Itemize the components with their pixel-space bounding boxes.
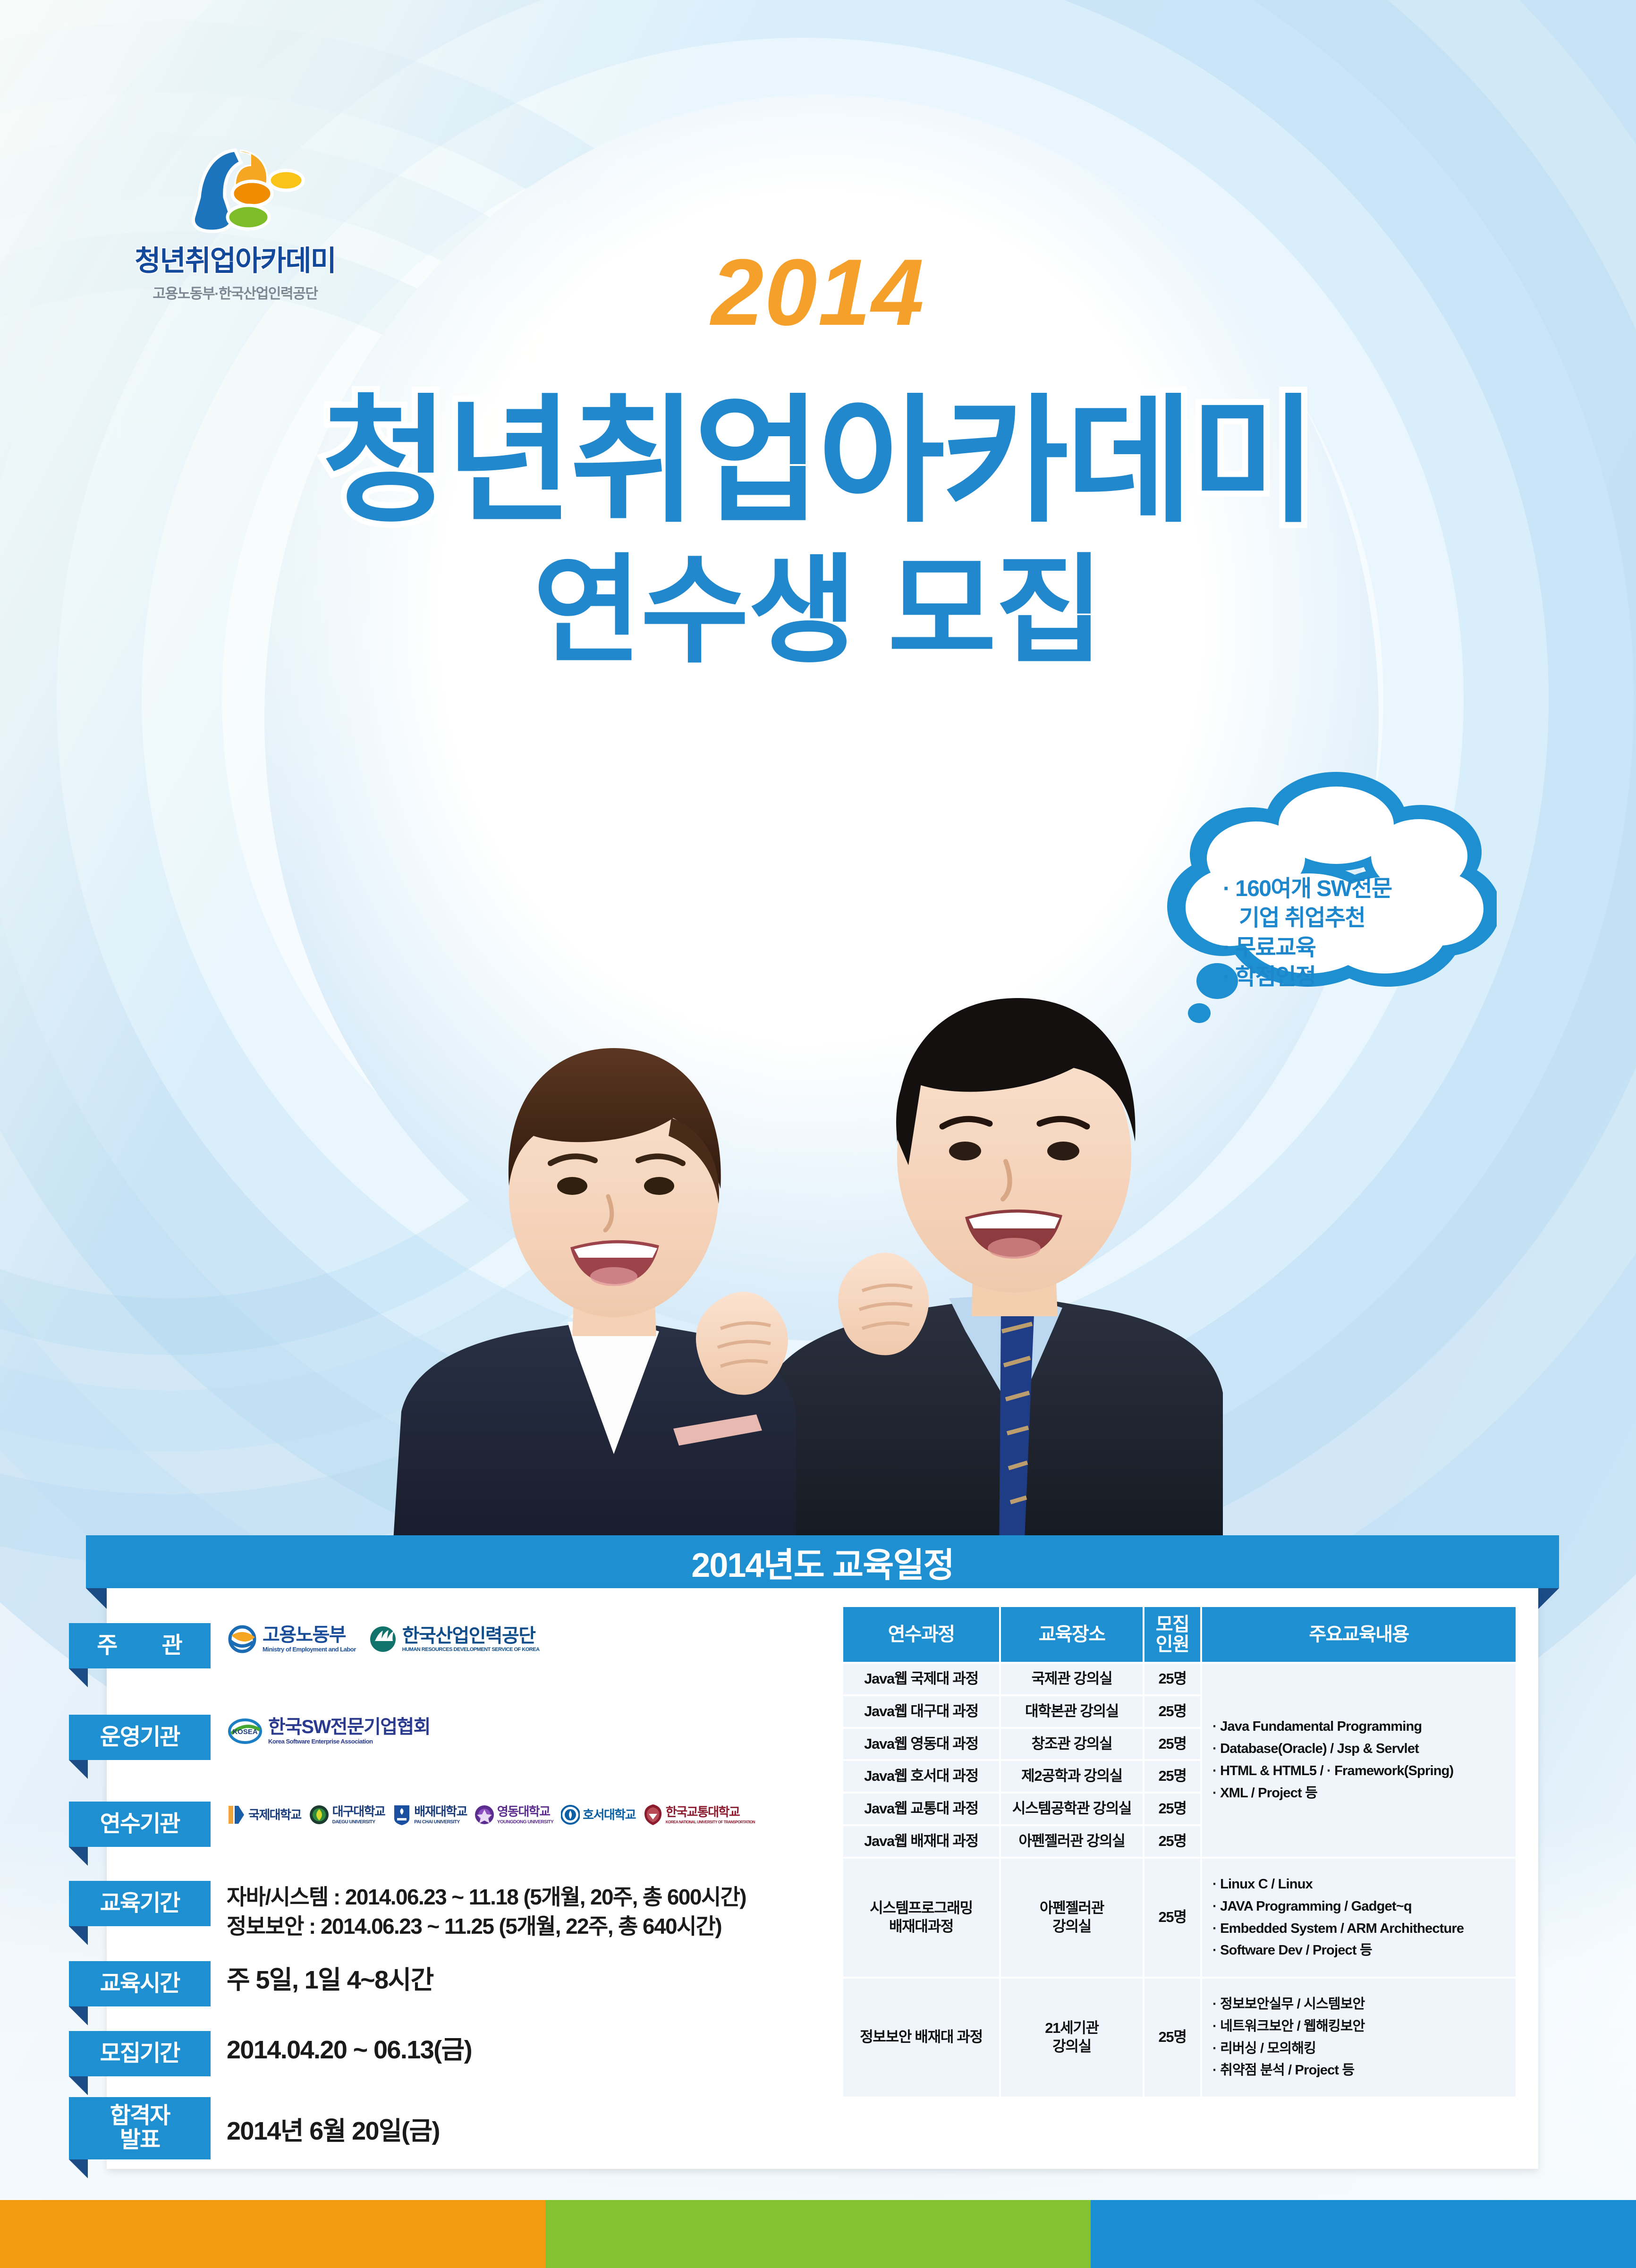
hours-line: 주 5일, 1일 4~8시간: [227, 1963, 433, 1997]
logo-daegu-name: 대구대학교: [332, 1804, 385, 1819]
content-line: · Java Fundamental Programming: [1212, 1716, 1513, 1738]
svg-text:KOSEA: KOSEA: [232, 1728, 258, 1736]
benefit-item-1: · 160여개 SW전문: [1223, 874, 1445, 904]
info-body-training: 국제대학교 대구대학교 DAEGU UNIVERSITY: [211, 1802, 755, 1826]
moel-globe-icon: [227, 1625, 258, 1653]
academy-ribbon-logo-icon: [164, 142, 306, 236]
info-tag-application-wrap: 모집기간: [69, 2031, 211, 2076]
cell-course: Java웹 국제대 과정: [843, 1664, 999, 1694]
cell-place-l1: 아펜젤러관: [1040, 1900, 1104, 1916]
logo-kosea-en: Korea Software Enterprise Association: [268, 1738, 430, 1745]
photo-person-female: [392, 1048, 796, 1563]
info-tag-hours: 교육시간: [69, 1961, 211, 2006]
table-row: 정보보안 배재대 과정 21세기관 강의실 25명 · 정보보안실무 / 시스템…: [843, 1979, 1516, 2097]
kookje-univ-icon: [227, 1804, 246, 1826]
info-body-host: 고용노동부 Ministry of Employment and Labor: [211, 1623, 540, 1653]
cell-quota: 25명: [1144, 1794, 1200, 1824]
info-body-operator: KOSEA 한국SW전문기업협회 Korea Software Enterpri…: [211, 1715, 430, 1746]
th-course: 연수과정: [843, 1607, 999, 1662]
logo-daegu-univ: 대구대학교 DAEGU UNIVERSITY: [309, 1804, 385, 1826]
th-place: 교육장소: [1001, 1607, 1143, 1662]
logo-kosea-text: 한국SW전문기업협회 Korea Software Enterprise Ass…: [268, 1718, 430, 1745]
content-line: · Software Dev / Project 등: [1212, 1939, 1513, 1962]
logo-moel: 고용노동부 Ministry of Employment and Labor: [227, 1625, 356, 1653]
info-body-application: 2014.04.20 ~ 06.13(금): [211, 2031, 472, 2067]
schedule-table: 연수과정 교육장소 모집 인원 주요교육내용 Java웹 국제대 과정 국제관 …: [841, 1605, 1517, 2099]
bottom-color-bar: [0, 2200, 1636, 2268]
logo-kosea-name: 한국SW전문기업협회: [268, 1717, 430, 1737]
info-row-period: 교육기간 자바/시스템 : 2014.06.23 ~ 11.18 (5개월, 2…: [107, 1881, 829, 1941]
cell-place: 21세기관 강의실: [1001, 1979, 1143, 2097]
logo-moel-text: 고용노동부 Ministry of Employment and Labor: [263, 1625, 356, 1653]
cell-place: 창조관 강의실: [1001, 1729, 1143, 1760]
info-tag-application: 모집기간: [69, 2031, 211, 2076]
info-row-announcement: 합격자 발표 2014년 6월 20일(금): [107, 2097, 829, 2159]
logo-hrdkorea-name: 한국산업인력공단: [402, 1625, 535, 1646]
cell-course-l1: 시스템프로그래밍: [870, 1900, 973, 1916]
schedule-table-body: Java웹 국제대 과정 국제관 강의실 25명 · Java Fundamen…: [843, 1664, 1516, 2097]
content-line: · 리버싱 / 모의해킹: [1212, 2038, 1513, 2060]
info-row-training-institutions: 연수기관 국제대학교: [107, 1802, 829, 1847]
schedule-table-wrap: 연수과정 교육장소 모집 인원 주요교육내용 Java웹 국제대 과정 국제관 …: [841, 1605, 1517, 2099]
info-tag-operator-wrap: 운영기관: [69, 1715, 211, 1760]
cell-quota: 25명: [1144, 1826, 1200, 1857]
logo-kookje-univ: 국제대학교: [227, 1804, 301, 1826]
hoseo-univ-icon: [561, 1804, 580, 1826]
info-body-hours: 주 5일, 1일 4~8시간: [211, 1961, 433, 1997]
content-panel: 주 관 고용노동부: [107, 1588, 1538, 2169]
cell-course: Java웹 영동대 과정: [843, 1729, 999, 1760]
info-row-application-period: 모집기간 2014.04.20 ~ 06.13(금): [107, 2031, 829, 2076]
logo-daegu-en: DAEGU UNIVERSITY: [332, 1819, 385, 1825]
th-quota-l1: 모집: [1156, 1614, 1189, 1635]
kanut-univ-icon: [643, 1803, 663, 1826]
logo-kanut-name: 한국교통대학교: [666, 1805, 739, 1819]
cell-quota: 25명: [1144, 1859, 1200, 1977]
hrdkorea-leaf-icon: [368, 1625, 398, 1653]
cell-quota: 25명: [1144, 1729, 1200, 1760]
youngdong-univ-icon: [475, 1804, 494, 1826]
logo-kanut-en: KOREA NATIONAL UNIVERSITY OF TRANSPORTAT…: [666, 1820, 755, 1824]
logo-hoseo-name: 호서대학교: [583, 1809, 636, 1821]
info-tag-host: 주 관: [69, 1623, 211, 1668]
logo-hrdkorea: 한국산업인력공단 HUMAN RESOURCES DEVELOPMENT SER…: [368, 1625, 540, 1653]
schedule-banner-title: 2014년도 교육일정: [86, 1535, 1559, 1588]
period-line-1: 자바/시스템 : 2014.06.23 ~ 11.18 (5개월, 20주, 총…: [227, 1883, 746, 1912]
info-row-host: 주 관 고용노동부: [107, 1623, 829, 1668]
cell-course: Java웹 교통대 과정: [843, 1794, 999, 1824]
logo-kosea: KOSEA 한국SW전문기업협회 Korea Software Enterpri…: [227, 1717, 430, 1746]
th-content: 주요교육내용: [1202, 1607, 1516, 1662]
cell-content-java: · Java Fundamental Programming · Databas…: [1202, 1664, 1516, 1857]
info-tag-training: 연수기관: [69, 1802, 211, 1847]
poster-root: 청년취업아카데미 고용노동부·한국산업인력공단 2014 청년취업아카데미 연수…: [0, 0, 1636, 2268]
logo-hrdkorea-en: HUMAN RESOURCES DEVELOPMENT SERVICE OF K…: [402, 1647, 540, 1652]
th-quota: 모집 인원: [1144, 1607, 1200, 1662]
university-logo-strip: 국제대학교 대구대학교 DAEGU UNIVERSITY: [227, 1803, 755, 1826]
cell-quota: 25명: [1144, 1761, 1200, 1792]
content-line: · 네트워크보안 / 웹해킹보안: [1212, 2015, 1513, 2038]
host-logo-strip: 고용노동부 Ministry of Employment and Labor: [227, 1625, 540, 1653]
logo-paichai-univ: 배재대학교 PAI CHAI UNIVERSITY: [392, 1804, 467, 1826]
operator-logo-strip: KOSEA 한국SW전문기업협회 Korea Software Enterpri…: [227, 1717, 430, 1746]
benefits-list: · 160여개 SW전문 기업 취업추천 · 무료교육 · 학점인정: [1223, 874, 1445, 992]
bottom-bar-green: [545, 2200, 1091, 2268]
cell-place: 아펜젤러관 강의실: [1001, 1826, 1143, 1857]
headline-year: 2014: [0, 238, 1636, 347]
application-period-line: 2014.04.20 ~ 06.13(금): [227, 2033, 472, 2067]
content-line: · 취약점 분석 / Project 등: [1212, 2059, 1513, 2082]
info-body-period: 자바/시스템 : 2014.06.23 ~ 11.18 (5개월, 20주, 총…: [211, 1881, 746, 1941]
bottom-bar-blue: [1091, 2200, 1636, 2268]
info-tag-period: 교육기간: [69, 1881, 211, 1926]
period-line-2: 정보보안 : 2014.06.23 ~ 11.25 (5개월, 22주, 총 6…: [227, 1912, 746, 1941]
info-list: 주 관 고용노동부: [107, 1588, 829, 2169]
logo-paichai-name: 배재대학교: [414, 1804, 467, 1819]
content-line: · Linux C / Linux: [1212, 1873, 1513, 1896]
people-photo: [392, 718, 1223, 1563]
bottom-bar-orange: [0, 2200, 545, 2268]
cell-quota: 25명: [1144, 1979, 1200, 2097]
benefit-item-2: · 무료교육: [1223, 933, 1445, 963]
logo-kookje-name: 국제대학교: [248, 1809, 301, 1821]
info-body-announcement: 2014년 6월 20일(금): [211, 2097, 440, 2148]
logo-moel-en: Ministry of Employment and Labor: [263, 1646, 356, 1653]
content-line: · Embedded System / ARM Archithecture: [1212, 1918, 1513, 1940]
content-line: · 정보보안실무 / 시스템보안: [1212, 1993, 1513, 2015]
info-row-hours: 교육시간 주 5일, 1일 4~8시간: [107, 1961, 829, 2006]
cell-course: 정보보안 배재대 과정: [843, 1979, 999, 2097]
content-line: · XML / Project 등: [1212, 1782, 1513, 1804]
cell-quota: 25명: [1144, 1664, 1200, 1694]
photo-person-male: [741, 998, 1223, 1563]
paichai-univ-icon: [392, 1804, 411, 1826]
logo-hrdkorea-text: 한국산업인력공단 HUMAN RESOURCES DEVELOPMENT SER…: [402, 1626, 540, 1652]
logo-youngdong-text: 영동대학교 YOUNGDONG UNIVERSITY: [497, 1805, 553, 1825]
info-tag-operator: 운영기관: [69, 1715, 211, 1760]
logo-youngdong-en: YOUNGDONG UNIVERSITY: [497, 1819, 553, 1825]
info-tag-host-wrap: 주 관: [69, 1623, 211, 1668]
content-line: · Database(Oracle) / Jsp & Servlet: [1212, 1738, 1513, 1760]
benefit-item-3: · 학점인정: [1223, 963, 1445, 992]
cell-place-l2: 강의실: [1052, 1918, 1091, 1935]
schedule-banner: 2014년도 교육일정: [86, 1535, 1559, 1588]
cell-course: 시스템프로그래밍 배재대과정: [843, 1859, 999, 1977]
logo-kanut-univ: 한국교통대학교 KOREA NATIONAL UNIVERSITY OF TRA…: [643, 1803, 755, 1826]
table-row: 시스템프로그래밍 배재대과정 아펜젤러관 강의실 25명 · Linux C /…: [843, 1859, 1516, 1977]
benefit-item-1-cont: 기업 취업추천: [1223, 904, 1445, 933]
kosea-swirl-icon: KOSEA: [227, 1717, 263, 1746]
cell-place-l1: 21세기관: [1045, 2020, 1099, 2036]
cell-place: 아펜젤러관 강의실: [1001, 1859, 1143, 1977]
people-photo-illustration: [392, 718, 1223, 1563]
benefits-thought-bubble: · 160여개 SW전문 기업 취업추천 · 무료교육 · 학점인정: [1166, 770, 1497, 1043]
logo-daegu-text: 대구대학교 DAEGU UNIVERSITY: [332, 1805, 385, 1825]
cell-place: 시스템공학관 강의실: [1001, 1794, 1143, 1824]
logo-kanut-text: 한국교통대학교 KOREA NATIONAL UNIVERSITY OF TRA…: [666, 1806, 755, 1824]
headline-line-2: 연수생 모집: [0, 515, 1636, 685]
logo-youngdong-univ: 영동대학교 YOUNGDONG UNIVERSITY: [475, 1804, 553, 1826]
table-header-row: 연수과정 교육장소 모집 인원 주요교육내용: [843, 1607, 1516, 1662]
cell-course: Java웹 대구대 과정: [843, 1696, 999, 1727]
info-tag-announcement-l1: 합격자: [110, 2104, 170, 2128]
info-row-operator: 운영기관 KOSEA 한국SW전문기업협회: [107, 1715, 829, 1760]
info-tag-training-wrap: 연수기관: [69, 1802, 211, 1847]
cell-place-l2: 강의실: [1052, 2038, 1091, 2055]
cell-course: Java웹 호서대 과정: [843, 1761, 999, 1792]
cell-place: 국제관 강의실: [1001, 1664, 1143, 1694]
cell-place: 대학본관 강의실: [1001, 1696, 1143, 1727]
logo-moel-name: 고용노동부: [263, 1625, 346, 1645]
th-quota-l2: 인원: [1156, 1634, 1189, 1655]
cell-quota: 25명: [1144, 1696, 1200, 1727]
logo-paichai-en: PAI CHAI UNIVERSITY: [414, 1819, 467, 1825]
cell-place: 제2공학과 강의실: [1001, 1761, 1143, 1792]
info-tag-period-wrap: 교육기간: [69, 1881, 211, 1926]
info-tag-announcement-wrap: 합격자 발표: [69, 2097, 211, 2159]
info-tag-announcement-l2: 발표: [120, 2128, 160, 2152]
daegu-univ-icon: [309, 1804, 330, 1826]
content-line: · JAVA Programming / Gadget~q: [1212, 1896, 1513, 1918]
info-tag-hours-wrap: 교육시간: [69, 1961, 211, 2006]
schedule-table-head: 연수과정 교육장소 모집 인원 주요교육내용: [843, 1607, 1516, 1662]
content-line: · HTML & HTML5 / · Framework(Spring): [1212, 1760, 1513, 1782]
logo-youngdong-name: 영동대학교: [497, 1804, 550, 1819]
cell-content-security: · 정보보안실무 / 시스템보안 · 네트워크보안 / 웹해킹보안 · 리버싱 …: [1202, 1979, 1516, 2097]
cell-course-l2: 배재대과정: [889, 1918, 953, 1935]
cell-course: Java웹 배재대 과정: [843, 1826, 999, 1857]
logo-hoseo-univ: 호서대학교: [561, 1804, 636, 1826]
table-row: Java웹 국제대 과정 국제관 강의실 25명 · Java Fundamen…: [843, 1664, 1516, 1694]
info-tag-host-label: 주 관: [78, 1634, 202, 1658]
cell-content-sysprog: · Linux C / Linux · JAVA Programming / G…: [1202, 1859, 1516, 1977]
logo-paichai-text: 배재대학교 PAI CHAI UNIVERSITY: [414, 1805, 467, 1825]
announcement-line: 2014년 6월 20일(금): [227, 2114, 440, 2148]
info-tag-announcement: 합격자 발표: [69, 2097, 211, 2159]
